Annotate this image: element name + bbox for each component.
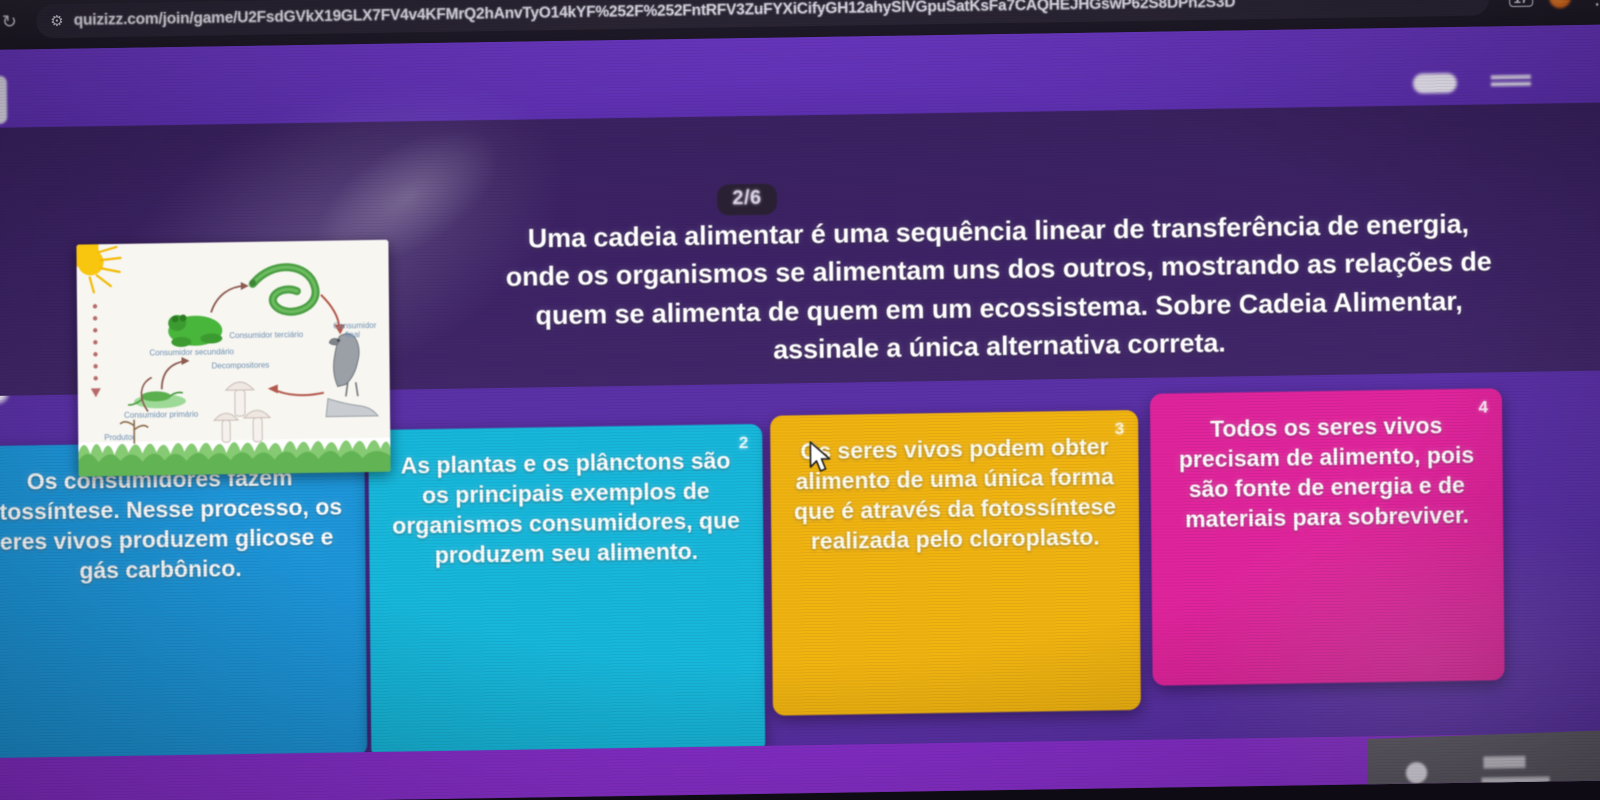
photo-of-screen: ↻ ⚙ quizizz.com/join/game/U2FsdGVkX19GLX…	[0, 0, 1600, 800]
question-text: Uma cadeia alimentar é uma sequência lin…	[493, 204, 1504, 373]
question-counter-badge: 2/6	[717, 184, 777, 216]
svg-text:Produtor: Produtor	[104, 433, 135, 442]
svg-text:Consumidor terciário: Consumidor terciário	[229, 330, 303, 340]
question-image[interactable]: Produtor Consumidor primário	[76, 240, 390, 477]
kebab-menu-icon[interactable]: ⋮	[1587, 0, 1600, 9]
answer-option-4[interactable]: 4 Todos os seres vivos precisam de alime…	[1150, 388, 1505, 686]
svg-text:Decompositores: Decompositores	[212, 361, 270, 371]
taskbar-clock	[1483, 756, 1525, 769]
answer-option-3-text: Os seres vivos podem obter alimento de u…	[794, 433, 1116, 553]
svg-text:final: final	[345, 330, 360, 339]
tab-count-button[interactable]: 17	[1509, 0, 1534, 7]
answer-option-2-number: 2	[739, 432, 749, 454]
answer-option-4-text: Todos os seres vivos precisam de aliment…	[1179, 412, 1474, 532]
answer-option-2-text: As plantas e os plânctons são os princip…	[392, 447, 740, 567]
answer-option-1[interactable]: 1 Os consumidores fazem fotossíntese. Ne…	[0, 440, 367, 762]
svg-text:Consumidor primário: Consumidor primário	[124, 410, 199, 420]
taskbar-date	[1482, 777, 1550, 789]
svg-text:Consumidor: Consumidor	[333, 321, 377, 331]
reload-icon[interactable]: ↻	[0, 8, 22, 34]
profile-avatar-icon[interactable]	[1549, 0, 1571, 8]
svg-text:Consumidor secundário: Consumidor secundário	[149, 347, 234, 357]
answer-option-1-text: Os consumidores fazem fotossíntese. Ness…	[0, 464, 342, 583]
answer-option-4-number: 4	[1478, 396, 1488, 418]
quizizz-game-page: 2/6 Uma cadeia alimentar é uma sequência…	[0, 24, 1600, 794]
toolbar-actions: 17 ⋮	[1509, 0, 1600, 11]
url-text: quizizz.com/join/game/U2FsdGVkX19GLX7FV4…	[74, 0, 1236, 30]
answer-option-2[interactable]: 2 As plantas e os plânctons são os princ…	[368, 424, 765, 760]
device-screen: ↻ ⚙ quizizz.com/join/game/U2FsdGVkX19GLX…	[0, 0, 1600, 800]
site-settings-icon[interactable]: ⚙	[50, 13, 64, 28]
navigation-glyph-icon[interactable]	[1403, 761, 1429, 789]
answer-option-3-number: 3	[1115, 418, 1125, 440]
